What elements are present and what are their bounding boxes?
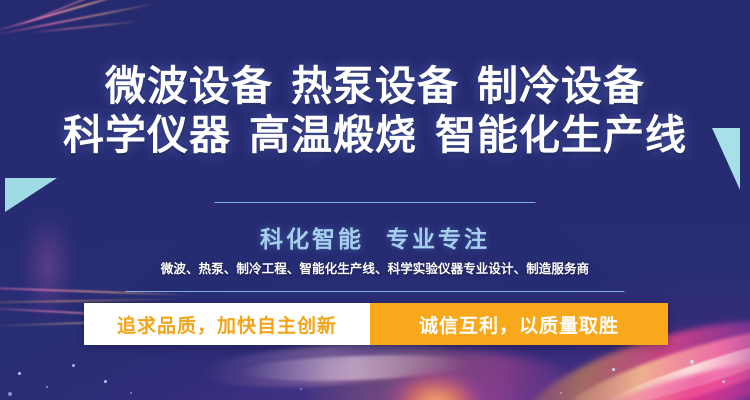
ribbon-icon xyxy=(240,352,471,384)
sparkle-icon xyxy=(72,364,75,367)
slogan-integrity: 诚信互利，以质量取胜 xyxy=(370,303,668,345)
headline-term-microwave: 微波设备 xyxy=(105,62,273,110)
slogan-quality: 追求品质，加快自主创新 xyxy=(84,303,370,345)
subtitle-description: 微波、热泵、制冷工程、智能化生产线、科学实验仪器专业设计、制造服务商 xyxy=(125,258,625,277)
sparkle-icon xyxy=(648,384,650,386)
headline-line-1: 微波设备热泵设备制冷设备 xyxy=(0,62,750,111)
sparkle-icon xyxy=(560,392,562,394)
sparkle-icon xyxy=(8,392,12,396)
sparkle-icon xyxy=(722,380,725,383)
sparkle-icon xyxy=(130,392,132,394)
light-streak-icon xyxy=(14,0,126,28)
headline-term-production-line: 智能化生产线 xyxy=(435,111,687,159)
headline-line-2: 科学仪器高温煅烧智能化生产线 xyxy=(0,111,750,160)
promo-banner: 微波设备热泵设备制冷设备 科学仪器高温煅烧智能化生产线 科化智能专业专注 微波、… xyxy=(0,0,750,400)
ribbon-icon xyxy=(584,343,750,400)
subtitle-main: 科化智能专业专注 xyxy=(125,220,625,254)
subtitle-frame: 科化智能专业专注 微波、热泵、制冷工程、智能化生产线、科学实验仪器专业设计、制造… xyxy=(125,202,625,292)
headline-term-instruments: 科学仪器 xyxy=(63,111,231,159)
headline-term-calcination: 高温煅烧 xyxy=(249,111,417,159)
slogan-bar-group: 追求品质，加快自主创新 诚信互利，以质量取胜 xyxy=(84,303,668,345)
sparkle-icon xyxy=(18,372,21,375)
subtitle-right: 专业专注 xyxy=(386,227,490,253)
headline-term-refrigeration: 制冷设备 xyxy=(477,62,645,110)
glow-orb-icon xyxy=(388,372,484,400)
sparkle-icon xyxy=(612,368,615,371)
sparkle-icon xyxy=(690,360,694,364)
ribbon-icon xyxy=(18,206,78,326)
light-streak-icon xyxy=(0,0,137,33)
sparkle-icon xyxy=(300,388,302,390)
banner-headline: 微波设备热泵设备制冷设备 科学仪器高温煅烧智能化生产线 xyxy=(0,62,750,160)
ribbon-icon xyxy=(300,350,580,400)
light-streak-icon xyxy=(0,2,158,35)
headline-term-heatpump: 热泵设备 xyxy=(291,62,459,110)
sparkle-icon xyxy=(46,386,48,388)
subtitle-left: 科化智能 xyxy=(260,227,364,253)
light-streak-icon xyxy=(30,20,140,33)
triangle-left-icon xyxy=(5,178,57,212)
sparkle-icon xyxy=(104,380,107,383)
